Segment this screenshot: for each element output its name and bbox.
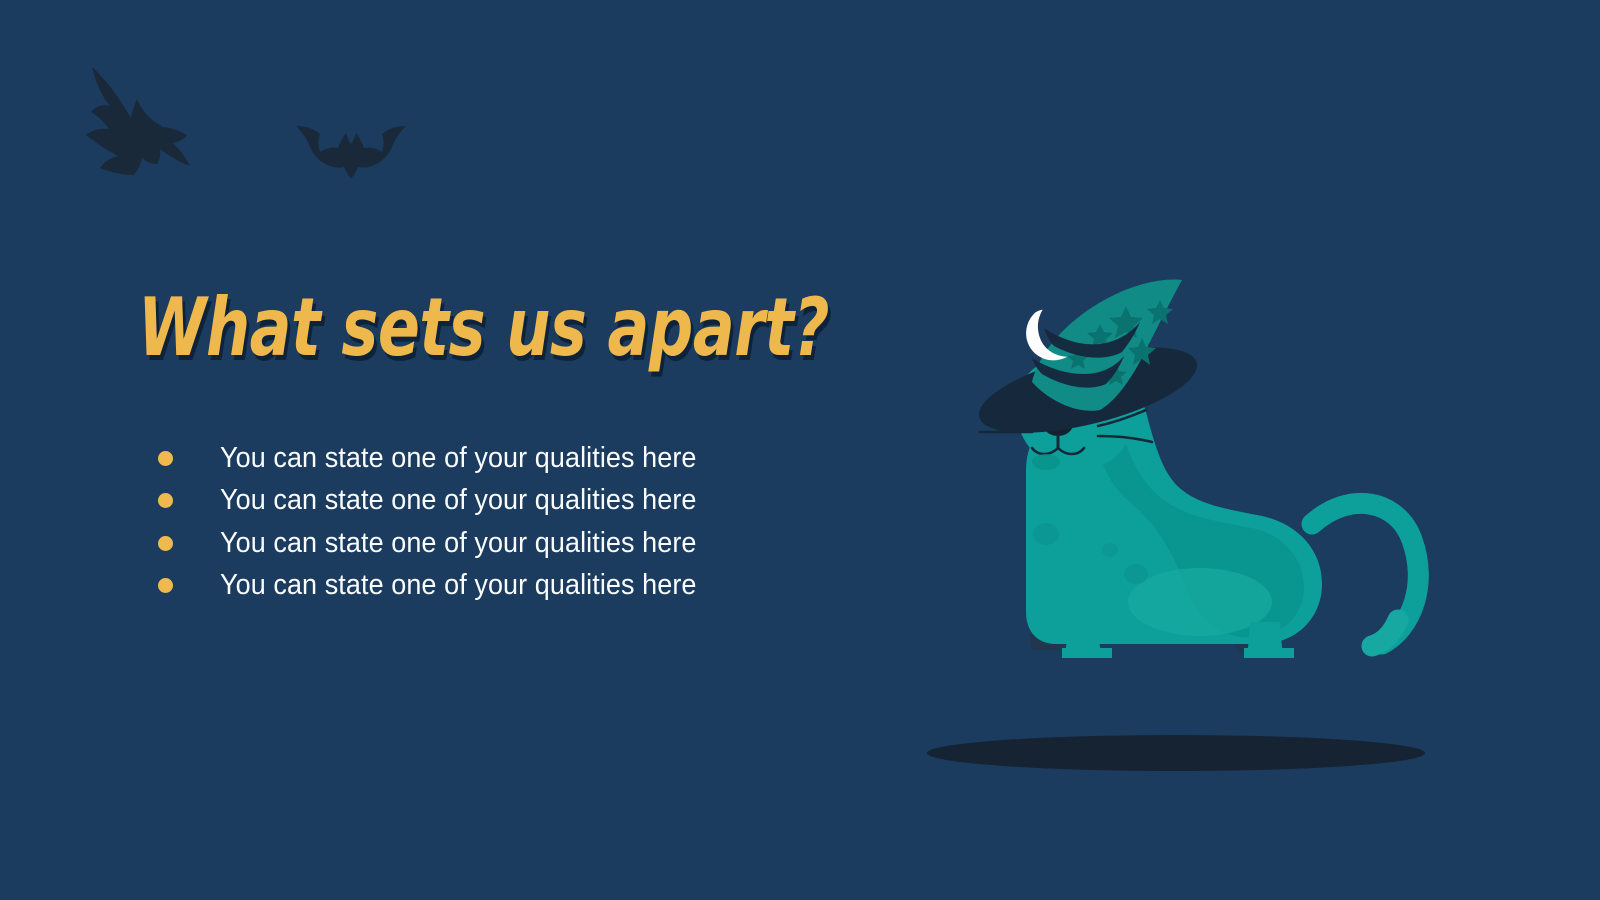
list-item: You can state one of your qualities here: [158, 480, 732, 523]
cat-tail: [1312, 503, 1418, 646]
bullet-dot-icon: [158, 493, 173, 508]
list-item-label: You can state one of your qualities here: [220, 484, 697, 517]
list-item-label: You can state one of your qualities here: [220, 569, 697, 602]
bullet-dot-icon: [158, 536, 173, 551]
witch-hat: [971, 280, 1205, 451]
bat-icon-large: [62, 62, 202, 180]
qualities-list: You can state one of your qualities here…: [158, 437, 732, 607]
bullet-dot-icon: [158, 451, 173, 466]
ground-shadow: [927, 735, 1425, 771]
bullet-dot-icon: [158, 578, 173, 593]
list-item: You can state one of your qualities here: [158, 565, 732, 608]
list-item: You can state one of your qualities here: [158, 522, 732, 565]
witch-cat-illustration: [920, 272, 1440, 672]
bat-icon-small: [294, 118, 408, 180]
slide-canvas: What sets us apart? You can state one of…: [0, 0, 1600, 900]
list-item: You can state one of your qualities here: [158, 437, 732, 480]
slide-title: What sets us apart?: [138, 288, 829, 369]
list-item-label: You can state one of your qualities here: [220, 527, 697, 560]
list-item-label: You can state one of your qualities here: [220, 442, 697, 475]
